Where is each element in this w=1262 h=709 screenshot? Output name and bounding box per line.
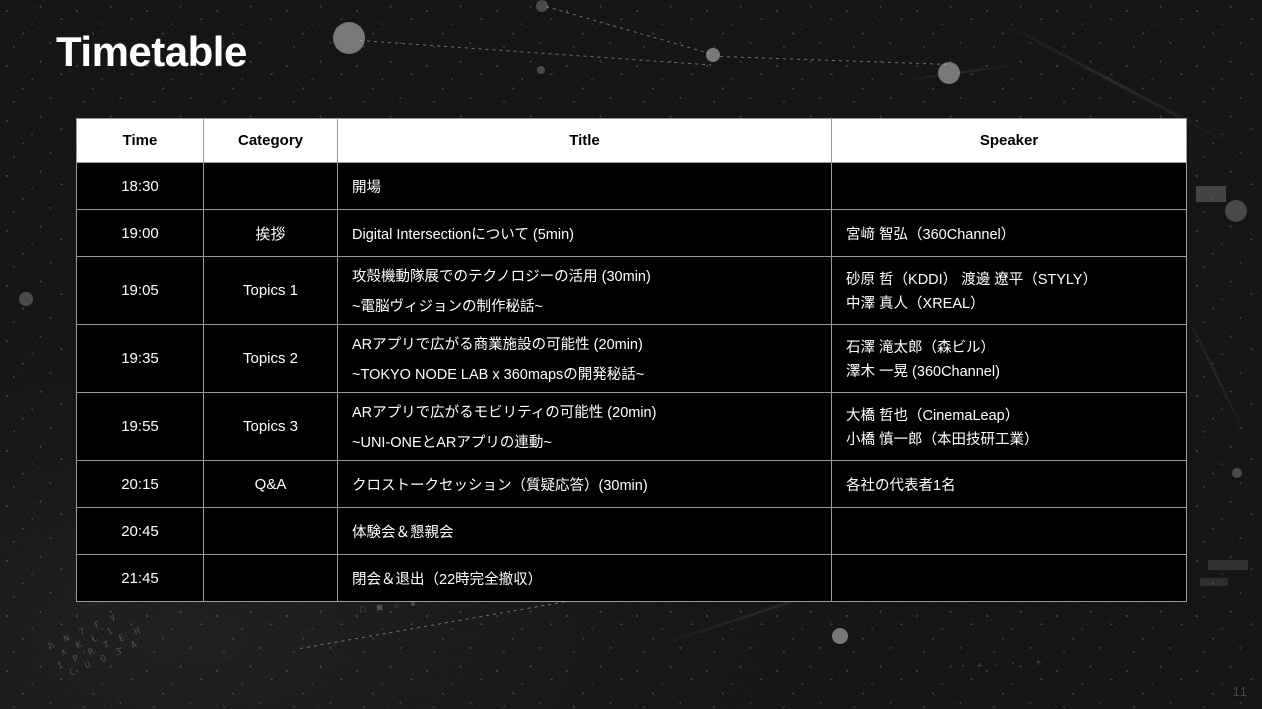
cell-speaker: 石澤 滝太郎（森ビル） 澤木 一晃 (360Channel) xyxy=(832,325,1187,393)
cell-title-line1: 攻殻機動隊展でのテクノロジーの活用 (30min) xyxy=(352,269,651,285)
background-blob xyxy=(1196,186,1226,202)
background-blob xyxy=(1200,578,1228,586)
cell-time: 19:00 xyxy=(77,210,204,257)
cell-speaker xyxy=(832,163,1187,210)
cell-title: ARアプリで広がる商業施設の可能性 (20min) ~TOKYO NODE LA… xyxy=(338,325,832,393)
table-row: 20:15 Q&A クロストークセッション（質疑応答）(30min) 各社の代表… xyxy=(77,461,1187,508)
cell-speaker xyxy=(832,508,1187,555)
cell-speaker-line1: 各社の代表者1名 xyxy=(846,478,956,494)
timetable: Time Category Title Speaker 18:30 開場 19:… xyxy=(76,118,1187,602)
background-particle xyxy=(1232,468,1242,478)
cell-title-line1: ARアプリで広がるモビリティの可能性 (20min) xyxy=(352,405,656,421)
cell-speaker-line2: 小橋 慎一郎（本田技研工業） xyxy=(846,428,1186,449)
cell-title-line2: ~電脳ヴィジョンの制作秘話~ xyxy=(352,295,831,316)
cell-title: 体験会＆懇親会 xyxy=(338,508,832,555)
cell-speaker: 各社の代表者1名 xyxy=(832,461,1187,508)
cell-title-line1: クロストークセッション（質疑応答）(30min) xyxy=(352,478,648,494)
page-title: Timetable xyxy=(56,28,247,76)
table-row: 21:45 閉会＆退出（22時完全撤収） xyxy=(77,555,1187,602)
cell-title: クロストークセッション（質疑応答）(30min) xyxy=(338,461,832,508)
cell-title-line1: 開場 xyxy=(352,180,381,196)
cell-speaker-line1: 砂原 哲（KDDI） 渡邊 遼平（STYLY） xyxy=(846,272,1097,288)
cell-title: 開場 xyxy=(338,163,832,210)
cell-speaker xyxy=(832,555,1187,602)
cell-speaker-line2: 澤木 一晃 (360Channel) xyxy=(846,360,1186,381)
cell-speaker-line1: 大橋 哲也（CinemaLeap） xyxy=(846,408,1019,424)
cell-title-line1: Digital Intersectionについて (5min) xyxy=(352,227,574,243)
cell-time: 18:30 xyxy=(77,163,204,210)
cell-speaker: 宮﨑 智弘（360Channel） xyxy=(832,210,1187,257)
background-particle xyxy=(537,66,545,74)
page-number: 11 xyxy=(1233,684,1249,699)
cell-title-line1: 閉会＆退出（22時完全撤収） xyxy=(352,572,542,588)
cell-speaker-line1: 宮﨑 智弘（360Channel） xyxy=(846,227,1015,243)
table-row: 19:35 Topics 2 ARアプリで広がる商業施設の可能性 (20min)… xyxy=(77,325,1187,393)
cell-time: 19:35 xyxy=(77,325,204,393)
cell-time: 19:55 xyxy=(77,393,204,461)
cell-time: 21:45 xyxy=(77,555,204,602)
background-particle xyxy=(19,292,33,306)
column-header-title: Title xyxy=(338,119,832,163)
cell-category: Topics 2 xyxy=(204,325,338,393)
cell-category xyxy=(204,555,338,602)
timetable-header: Time Category Title Speaker xyxy=(77,119,1187,163)
cell-title-line1: 体験会＆懇親会 xyxy=(352,525,454,541)
slide-canvas: h N 7 F V ∧ K L 1 I P R T E H C U Q 3 A … xyxy=(0,0,1262,709)
cell-title-line2: ~TOKYO NODE LAB x 360mapsの開発秘話~ xyxy=(352,363,831,384)
cell-category: Q&A xyxy=(204,461,338,508)
cell-time: 20:15 xyxy=(77,461,204,508)
timetable-body: 18:30 開場 19:00 挨拶 Digital Intersectionにつ… xyxy=(77,163,1187,602)
cell-speaker-line2: 中澤 真人（XREAL） xyxy=(846,292,1186,313)
cell-time: 19:05 xyxy=(77,257,204,325)
cell-title-line1: ARアプリで広がる商業施設の可能性 (20min) xyxy=(352,337,643,353)
column-header-category: Category xyxy=(204,119,338,163)
background-blob xyxy=(1225,200,1247,222)
cell-category: 挨拶 xyxy=(204,210,338,257)
cell-category: Topics 3 xyxy=(204,393,338,461)
cell-category xyxy=(204,163,338,210)
table-row: 20:45 体験会＆懇親会 xyxy=(77,508,1187,555)
cell-time: 20:45 xyxy=(77,508,204,555)
background-particle xyxy=(333,22,365,54)
cell-title: 攻殻機動隊展でのテクノロジーの活用 (30min) ~電脳ヴィジョンの制作秘話~ xyxy=(338,257,832,325)
background-blob xyxy=(1208,560,1248,570)
table-row: 19:55 Topics 3 ARアプリで広がるモビリティの可能性 (20min… xyxy=(77,393,1187,461)
background-particle xyxy=(938,62,960,84)
cell-speaker: 砂原 哲（KDDI） 渡邊 遼平（STYLY） 中澤 真人（XREAL） xyxy=(832,257,1187,325)
cell-category xyxy=(204,508,338,555)
table-header-row: Time Category Title Speaker xyxy=(77,119,1187,163)
cell-title: 閉会＆退出（22時完全撤収） xyxy=(338,555,832,602)
table-row: 18:30 開場 xyxy=(77,163,1187,210)
cell-speaker: 大橋 哲也（CinemaLeap） 小橋 慎一郎（本田技研工業） xyxy=(832,393,1187,461)
table-row: 19:05 Topics 1 攻殻機動隊展でのテクノロジーの活用 (30min)… xyxy=(77,257,1187,325)
cell-title-line2: ~UNI-ONEとARアプリの連動~ xyxy=(352,431,831,452)
background-particle xyxy=(832,628,848,644)
table-row: 19:00 挨拶 Digital Intersectionについて (5min)… xyxy=(77,210,1187,257)
column-header-time: Time xyxy=(77,119,204,163)
background-particle xyxy=(706,48,720,62)
cell-title: Digital Intersectionについて (5min) xyxy=(338,210,832,257)
column-header-speaker: Speaker xyxy=(832,119,1187,163)
cell-speaker-line1: 石澤 滝太郎（森ビル） xyxy=(846,340,995,356)
cell-title: ARアプリで広がるモビリティの可能性 (20min) ~UNI-ONEとARアプ… xyxy=(338,393,832,461)
cell-category: Topics 1 xyxy=(204,257,338,325)
